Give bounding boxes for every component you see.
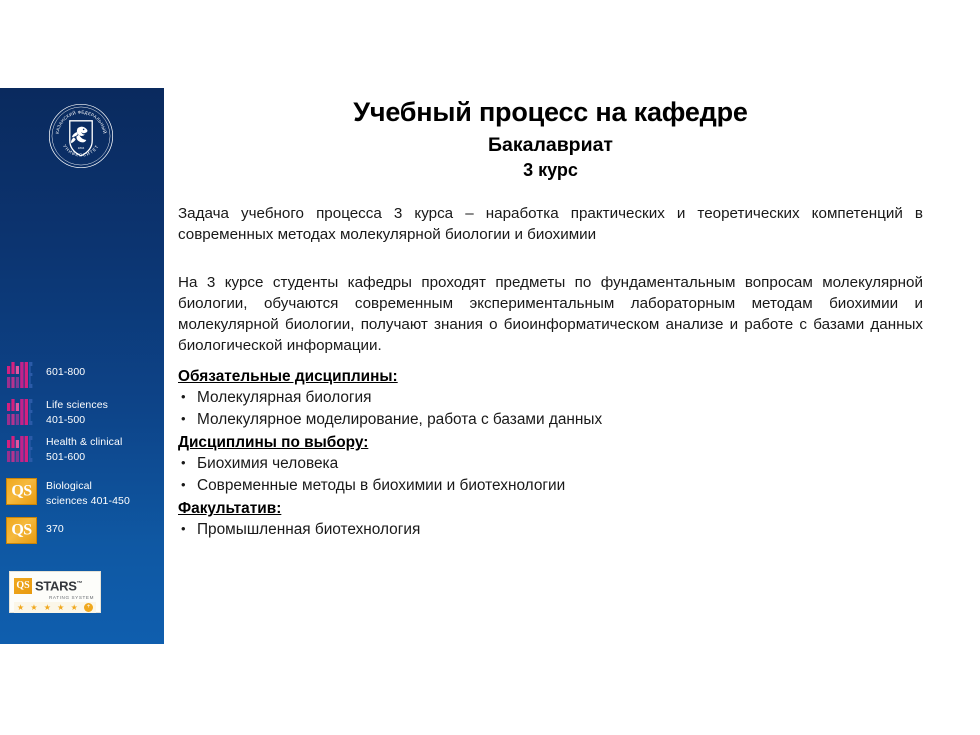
paragraph-objective: Задача учебного процесса 3 курса – нараб… xyxy=(178,203,923,245)
qs-stars-badge: QS STARS™ RATING SYSTEM ★ ★ ★ ★ ★ + xyxy=(9,571,101,613)
the-logo-icon xyxy=(6,360,37,390)
ranking-label: 601-800 xyxy=(46,360,164,380)
qs-logo-icon: QS xyxy=(6,517,37,547)
ranking-label: Biological sciences 401-450 xyxy=(46,478,164,508)
group-heading: Дисциплины по выбору: xyxy=(178,432,923,453)
rankings-list: 601-800 xyxy=(6,360,164,554)
ranking-row: Health & clinical 501-600 xyxy=(6,434,164,464)
list-item: Современные методы в биохимии и биотехно… xyxy=(178,475,923,497)
qs-stars-rating-strip: ★ ★ ★ ★ ★ + xyxy=(14,602,96,613)
ranking-label: 370 xyxy=(46,517,164,537)
slide-subtitle-year: 3 курс xyxy=(178,158,923,182)
ranking-label: Life sciences 401-500 xyxy=(46,397,164,427)
trademark-symbol: ™ xyxy=(77,581,83,587)
group-heading: Обязательные дисциплины: xyxy=(178,366,923,387)
discipline-group-required: Обязательные дисциплины: Молекулярная би… xyxy=(178,366,923,431)
slide-body: Учебный процесс на кафедре Бакалавриат 3… xyxy=(178,95,923,541)
list-item: Молекулярная биология xyxy=(178,387,923,409)
ranking-row: Life sciences 401-500 xyxy=(6,397,164,427)
the-logo-icon xyxy=(6,397,37,427)
sidebar-panel: КАЗАНСКИЙ ФЕДЕРАЛЬНЫЙ УНИВЕРСИТЕТ 1804 xyxy=(0,88,164,644)
paragraph-description: На 3 курсе студенты кафедры проходят пре… xyxy=(178,272,923,356)
star-icon: ★ xyxy=(71,604,78,612)
qs-stars-word: STARS xyxy=(35,579,77,594)
slide-subtitle-degree: Бакалавриат xyxy=(178,132,923,158)
page-title: Учебный процесс на кафедре xyxy=(178,95,923,129)
list-item: Биохимия человека xyxy=(178,453,923,475)
ranking-label: Health & clinical 501-600 xyxy=(46,434,164,464)
list-item: Молекулярное моделирование, работа с баз… xyxy=(178,409,923,431)
discipline-group-optional: Факультатив: Промышленная биотехнология xyxy=(178,498,923,541)
qs-logo-icon: QS xyxy=(6,478,37,508)
slide-title-block: Учебный процесс на кафедре Бакалавриат 3… xyxy=(178,95,923,182)
ranking-row: QS Biological sciences 401-450 xyxy=(6,478,164,508)
svg-text:1804: 1804 xyxy=(78,146,85,150)
disciplines-section: Обязательные дисциплины: Молекулярная би… xyxy=(178,366,923,541)
the-logo-icon xyxy=(6,434,37,464)
university-emblem: КАЗАНСКИЙ ФЕДЕРАЛЬНЫЙ УНИВЕРСИТЕТ 1804 xyxy=(48,103,114,169)
qs-mini-logo-icon: QS xyxy=(14,578,32,594)
discipline-group-elective: Дисциплины по выбору: Биохимия человека … xyxy=(178,432,923,497)
qs-stars-subtitle: RATING SYSTEM xyxy=(14,595,96,600)
presentation-slide: КАЗАНСКИЙ ФЕДЕРАЛЬНЫЙ УНИВЕРСИТЕТ 1804 xyxy=(0,0,980,735)
star-icon: ★ xyxy=(57,604,64,612)
group-heading: Факультатив: xyxy=(178,498,923,519)
star-plus-marker: + xyxy=(84,603,93,612)
star-icon: ★ xyxy=(30,604,37,612)
ranking-row: QS 370 xyxy=(6,517,164,547)
ranking-row: 601-800 xyxy=(6,360,164,390)
star-icon: ★ xyxy=(44,604,51,612)
list-item: Промышленная биотехнология xyxy=(178,519,923,541)
star-icon: ★ xyxy=(17,604,24,612)
